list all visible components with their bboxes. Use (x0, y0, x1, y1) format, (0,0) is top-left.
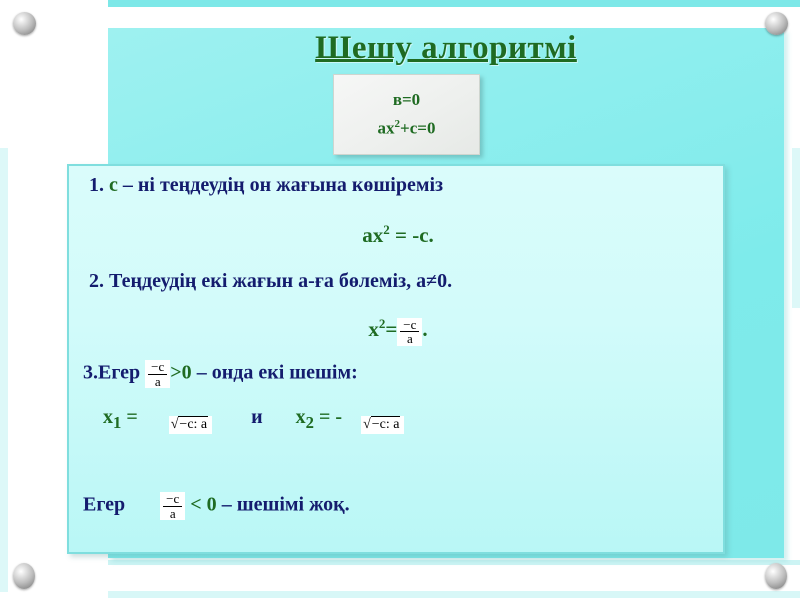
chip-eq-base: ax (378, 119, 395, 138)
chip-eq-tail: +c=0 (400, 119, 435, 138)
step-4-comparison: < 0 (190, 494, 216, 516)
corner-screw-icon (13, 12, 36, 35)
eq1-base: ax (362, 223, 383, 247)
radical-symbol: √ (363, 417, 371, 432)
condition-quadratic: ax2+c=0 (378, 118, 436, 139)
fraction-neg-c-over-a: −ca (145, 360, 170, 388)
step-2-text: Теңдеудің екі жағын а-ға бөлеміз, a≠0. (104, 270, 452, 292)
eq2-tail: . (422, 317, 427, 341)
frame-band-top (108, 0, 800, 7)
step-3-text: – онда екі шешім: (192, 362, 358, 384)
eq2-equals: = (385, 317, 397, 341)
root-x1-base: x (103, 406, 113, 428)
step-1-line: 1. с – ні теңдеудің он жағына көшіреміз (89, 174, 443, 197)
fraction-denominator: a (163, 507, 182, 521)
frame-band-bottom (108, 591, 800, 598)
corner-screw-icon (13, 563, 35, 589)
radical-radicand: −c: a (178, 416, 208, 432)
step-4-lead: Егер (83, 494, 125, 516)
step-1-text: – ні теңдеудің он жағына көшіреміз (118, 174, 443, 196)
radical-neg-c-div-a: √−c: a (361, 416, 404, 434)
corner-screw-icon (765, 12, 788, 35)
step-4-text: – шешімі жоқ. (217, 494, 350, 516)
step-2-line: 2. Теңдеудің екі жағын а-ға бөлеміз, a≠0… (89, 270, 452, 293)
fraction-numerator: −c (163, 492, 182, 507)
step-3-line: 3.Егер −ca>0 – онда екі шешім: (83, 360, 358, 388)
step-1-number: 1. (89, 174, 104, 196)
step-1-letter: с (109, 174, 118, 196)
step-3-comparison: >0 (170, 362, 191, 384)
step-2-number: 2. (89, 270, 104, 292)
fraction-neg-c-over-a: −ca (160, 492, 185, 520)
condition-b-equals-zero: в=0 (393, 90, 420, 110)
frame-band-right (792, 148, 800, 308)
root-x2-equals: = - (319, 406, 342, 428)
step-2-equation: x2=−ca. (69, 316, 727, 346)
step-3-lead: Егер (98, 362, 140, 384)
step-4-line: Егер −ca < 0 – шешімі жоқ. (83, 492, 350, 520)
radical-neg-c-div-a: √−c: a (169, 416, 212, 434)
fraction-denominator: a (400, 332, 419, 346)
fraction-neg-c-over-a: −ca (397, 318, 422, 346)
radical-radicand: −c: a (371, 416, 401, 432)
root-x1-equals: = (126, 406, 137, 428)
slide-canvas: Шешу алгоритмі в=0 ax2+c=0 1. с – ні тең… (0, 0, 800, 600)
root-x2-label: x2 = - (296, 406, 342, 428)
roots-conjunction: и (251, 406, 263, 428)
fraction-numerator: −c (148, 360, 167, 375)
page-title: Шешу алгоритмі (108, 30, 784, 67)
root-x1-label: x1 = (103, 406, 138, 428)
frame-band-left (0, 148, 8, 592)
root-x1-subscript: 1 (113, 413, 121, 432)
roots-line: x1 = √−c: a и x2 = - √−c: a (103, 406, 404, 434)
eq1-tail: = -с. (390, 223, 434, 247)
eq2-base: x (368, 317, 379, 341)
root-x2-base: x (296, 406, 306, 428)
condition-chip: в=0 ax2+c=0 (333, 74, 480, 155)
fraction-denominator: a (148, 375, 167, 389)
root-x2-subscript: 2 (306, 413, 314, 432)
step-1-equation: ax2 = -с. (69, 222, 727, 248)
corner-screw-icon (765, 563, 787, 589)
step-3-number: 3. (83, 362, 98, 384)
algorithm-content-box: 1. с – ні теңдеудің он жағына көшіреміз … (67, 164, 725, 554)
fraction-numerator: −c (400, 318, 419, 333)
